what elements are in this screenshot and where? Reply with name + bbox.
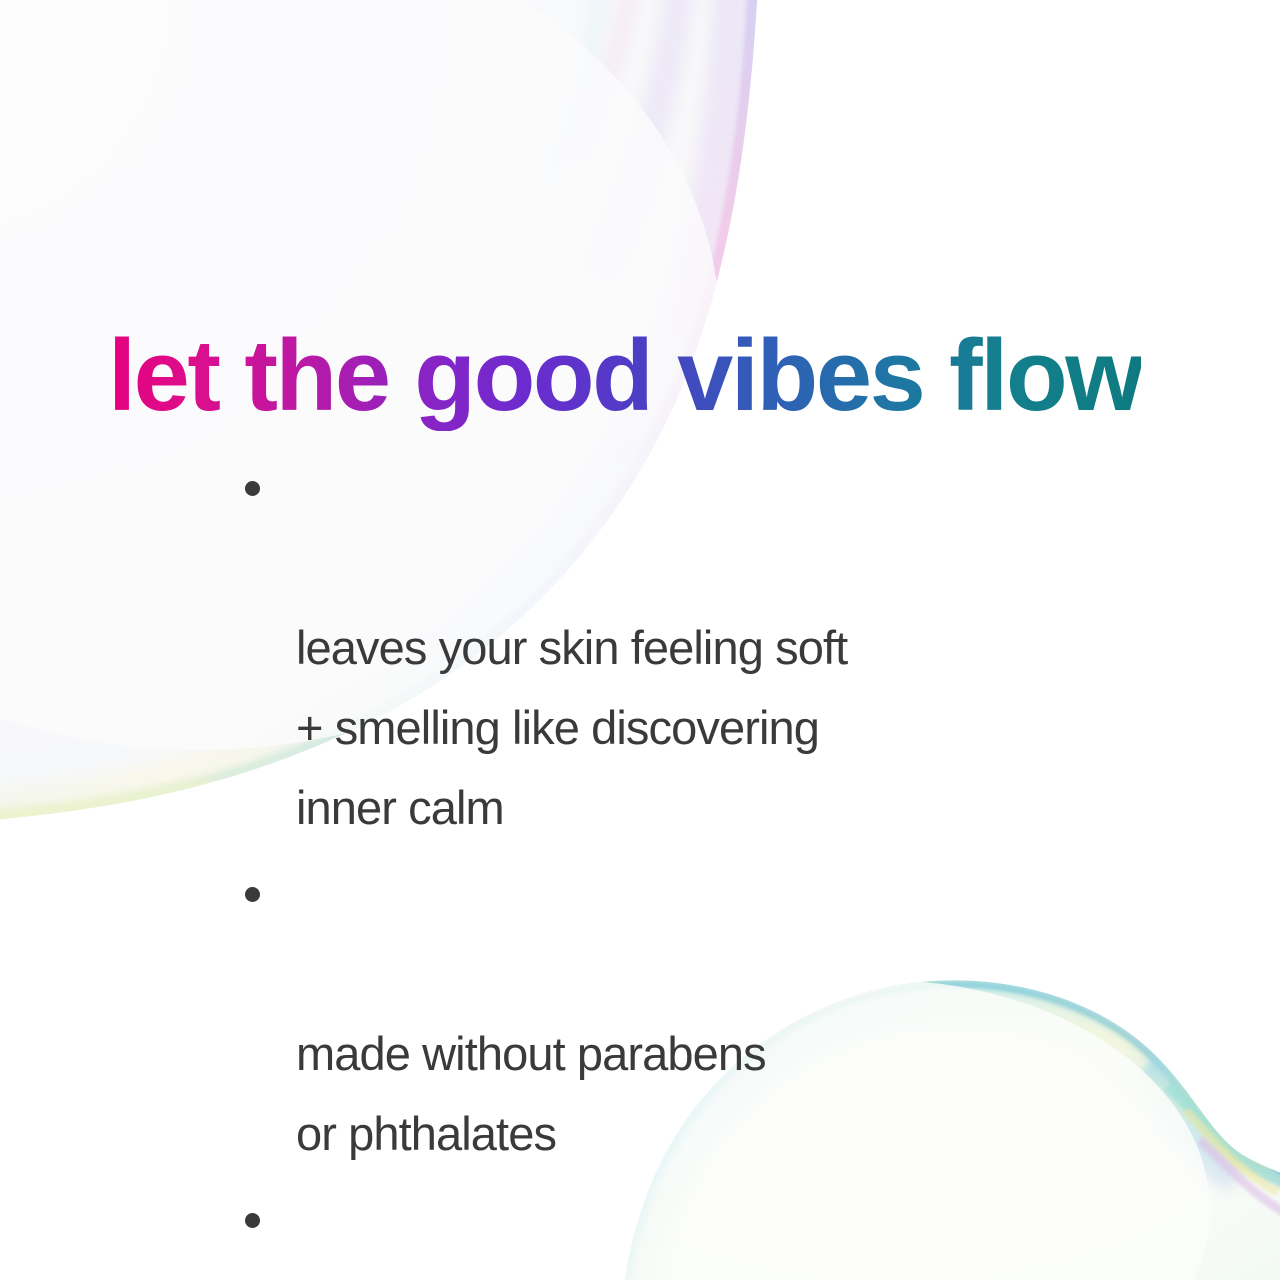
list-item: cruelty free. tested by people, not on a…	[240, 1180, 1140, 1280]
list-item-label: made without parabens or phthalates	[296, 1027, 766, 1160]
list-item: leaves your skin feeling soft + smelling…	[240, 448, 1140, 848]
product-benefits-graphic: let the good vibes flow leaves your skin…	[0, 0, 1280, 1280]
list-item-label: leaves your skin feeling soft + smelling…	[296, 621, 847, 834]
list-item: made without parabens or phthalates	[240, 854, 1140, 1174]
bullet-dot-icon	[245, 1213, 260, 1228]
bullet-dot-icon	[245, 481, 260, 496]
bullet-dot-icon	[245, 887, 260, 902]
page-title: let the good vibes flow	[108, 322, 1141, 431]
benefits-list: leaves your skin feeling soft + smelling…	[240, 448, 1140, 1280]
